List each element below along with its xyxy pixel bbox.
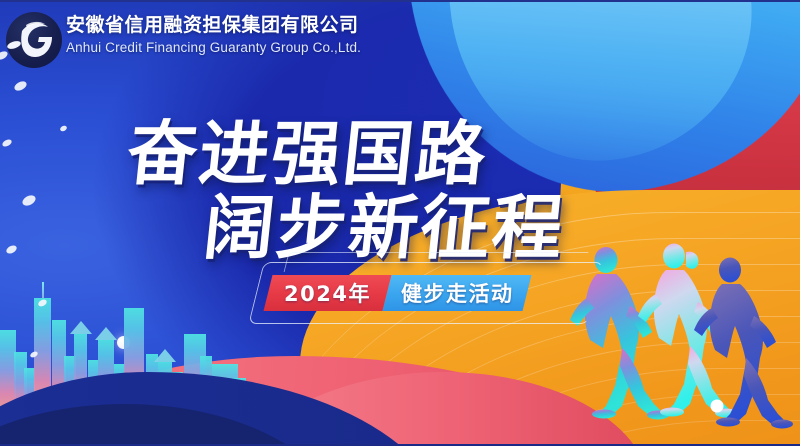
- decorative-dot: [13, 79, 28, 92]
- decorative-dot: [29, 350, 38, 358]
- company-name-cn: 安徽省信用融资担保集团有限公司: [66, 14, 361, 38]
- company-name-en: Anhui Credit Financing Guaranty Group Co…: [66, 40, 361, 55]
- subtitle-event: 健步走活动: [401, 278, 514, 308]
- decorative-dot: [1, 138, 13, 148]
- subtitle-year: 2024年: [284, 278, 371, 308]
- decorative-dot: [5, 244, 18, 255]
- frame-edge-top: [0, 0, 800, 2]
- company-name-block: 安徽省信用融资担保集团有限公司 Anhui Credit Financing G…: [66, 14, 361, 55]
- company-logo: [6, 12, 62, 68]
- decorative-dot: [59, 125, 68, 133]
- decorative-dot: [37, 298, 48, 308]
- company-monogram-icon: [6, 12, 62, 68]
- runner-silhouettes: [570, 236, 800, 446]
- light-accent-dot: [711, 400, 724, 413]
- subtitle-event-segment: 健步走活动: [382, 275, 531, 311]
- promotional-banner: 安徽省信用融资担保集团有限公司 Anhui Credit Financing G…: [0, 0, 800, 446]
- decorative-dot: [21, 193, 38, 208]
- subtitle-pill: 2024年 健步走活动: [264, 275, 532, 311]
- subtitle-year-segment: 2024年: [264, 275, 392, 311]
